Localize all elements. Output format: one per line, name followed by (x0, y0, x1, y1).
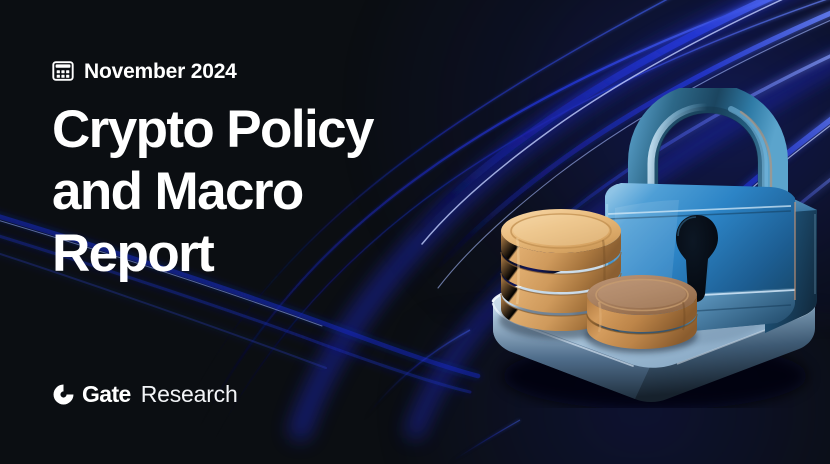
report-cover-banner: November 2024 Crypto Policyand MacroRepo… (0, 0, 830, 464)
gate-research-logo: Gate Research (52, 383, 238, 406)
calendar-icon (52, 60, 74, 82)
date-row: November 2024 (52, 60, 237, 82)
logo-brand-name: Gate (82, 383, 131, 406)
page-title-line-3: Report (52, 224, 213, 283)
page-title-line-2: and Macro (52, 162, 303, 221)
gate-logo-mark-icon (52, 383, 75, 406)
logo-product-name: Research (141, 383, 238, 406)
padlock-artwork (465, 88, 830, 408)
date-label: November 2024 (84, 61, 237, 82)
padlock-with-coins-illustration (465, 88, 830, 408)
coin-stack-front (585, 275, 697, 353)
page-title: Crypto Policyand MacroReport (52, 99, 452, 285)
page-title-line-1: Crypto Policy (52, 100, 373, 159)
cover-text-column: November 2024 Crypto Policyand MacroRepo… (52, 0, 482, 464)
